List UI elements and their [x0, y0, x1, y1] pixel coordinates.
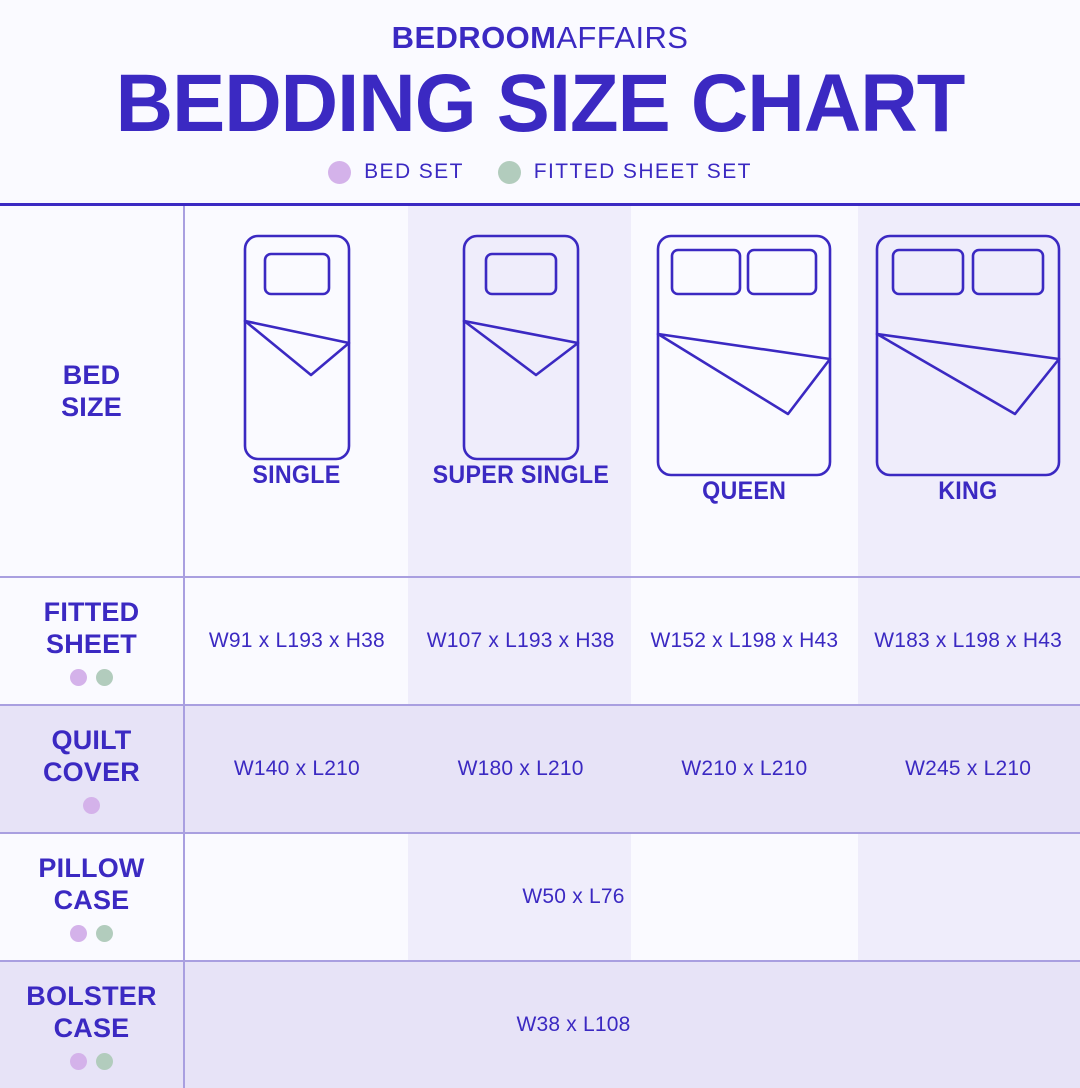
cell-quilt-cover-single: W140 x L210: [185, 706, 409, 832]
row-cells-quilt-cover: W140 x L210 W180 x L210 W210 x L210 W245…: [185, 706, 1080, 832]
cell-value: W107 x L193 x H38: [427, 629, 615, 653]
bed-name-single: SINGLE: [253, 461, 341, 490]
bedding-size-table: BED SIZE SINGLE SUPER SINGLE: [0, 203, 1080, 1080]
table-row-pillow-case: PILLOW CASE W50 x L76: [0, 832, 1080, 960]
bed-name-king: KING: [938, 477, 997, 506]
legend-label-fitted-sheet-set: FITTED SHEET SET: [534, 160, 752, 184]
row-label-line1: BOLSTER: [26, 980, 156, 1012]
row-label-fitted-sheet: FITTED SHEET: [0, 578, 185, 704]
row-dots-quilt-cover: [83, 797, 100, 814]
cell-quilt-cover-king: W245 x L210: [856, 706, 1080, 832]
fitted-sheet-dot-icon: [96, 925, 113, 942]
cell-fitted-sheet-single: W91 x L193 x H38: [185, 578, 409, 704]
cell-value: W210 x L210: [681, 757, 807, 781]
cell-value: W38 x L108: [516, 1013, 630, 1037]
cell-fitted-sheet-super-single: W107 x L193 x H38: [409, 578, 633, 704]
bed-set-dot-icon: [83, 797, 100, 814]
cell-bolster-case-all-sizes: W38 x L108: [185, 962, 1080, 1088]
brand-name-strong: BEDROOM: [392, 20, 557, 55]
row-label-line1: FITTED: [44, 596, 140, 628]
bed-cell-single: SINGLE: [185, 206, 409, 576]
cell-value: W245 x L210: [905, 757, 1031, 781]
row-label-line1: PILLOW: [38, 852, 144, 884]
bed-set-dot-icon: [70, 925, 87, 942]
bed-name-queen: QUEEN: [702, 477, 786, 506]
legend-item-fitted-sheet-set: FITTED SHEET SET: [498, 160, 752, 184]
fitted-sheet-dot-icon: [96, 1053, 113, 1070]
row-cells-bed-size: SINGLE SUPER SINGLE QUEEN: [185, 206, 1080, 576]
table-row-bolster-case: BOLSTER CASE W38 x L108: [0, 960, 1080, 1088]
bed-set-dot-icon: [328, 161, 351, 184]
row-label-line1: BED: [63, 359, 121, 391]
row-cells-bolster-case: W38 x L108: [185, 962, 1080, 1088]
bed-illustration-single-icon: [243, 234, 351, 461]
bed-set-dot-icon: [70, 669, 87, 686]
row-label-bolster-case: BOLSTER CASE: [0, 962, 185, 1088]
bed-set-dot-icon: [70, 1053, 87, 1070]
cell-value: W183 x L198 x H43: [874, 629, 1062, 653]
cell-value: W180 x L210: [458, 757, 584, 781]
page-title: BEDDING SIZE CHART: [16, 62, 1064, 146]
cell-value: W50 x L76: [522, 885, 624, 909]
cell-pillow-case-all-sizes: W50 x L76: [185, 834, 1080, 960]
bed-illustration-king-icon: [875, 234, 1061, 477]
cell-quilt-cover-queen: W210 x L210: [633, 706, 857, 832]
legend-label-bed-set: BED SET: [364, 160, 464, 184]
fitted-sheet-dot-icon: [498, 161, 521, 184]
cell-value: W140 x L210: [234, 757, 360, 781]
legend-item-bed-set: BED SET: [328, 160, 464, 184]
bed-cell-super-single: SUPER SINGLE: [409, 206, 633, 576]
legend: BED SET FITTED SHEET SET: [0, 160, 1080, 184]
bed-cell-queen: QUEEN: [633, 206, 857, 576]
row-label-quilt-cover: QUILT COVER: [0, 706, 185, 832]
cell-fitted-sheet-queen: W152 x L198 x H43: [633, 578, 857, 704]
table-row-bed-size: BED SIZE SINGLE SUPER SINGLE: [0, 206, 1080, 576]
brand-logo: BEDROOMAFFAIRS: [0, 0, 1080, 56]
cell-value: W152 x L198 x H43: [650, 629, 838, 653]
bed-name-super-single: SUPER SINGLE: [432, 461, 608, 490]
row-cells-pillow-case: W50 x L76: [185, 834, 1080, 960]
row-label-line2: CASE: [54, 1012, 130, 1044]
row-label-bed-size: BED SIZE: [0, 206, 185, 576]
row-dots-pillow-case: [70, 925, 113, 942]
row-cells-fitted-sheet: W91 x L193 x H38 W107 x L193 x H38 W152 …: [185, 578, 1080, 704]
cell-fitted-sheet-king: W183 x L198 x H43: [856, 578, 1080, 704]
cell-value: W91 x L193 x H38: [209, 629, 385, 653]
bed-illustration-queen-icon: [656, 234, 832, 477]
row-label-line1: QUILT: [52, 724, 132, 756]
bed-illustration-super-single-icon: [462, 234, 580, 461]
row-label-line2: COVER: [43, 756, 140, 788]
row-dots-bolster-case: [70, 1053, 113, 1070]
row-label-line2: SIZE: [61, 391, 122, 423]
chart-header: BEDROOMAFFAIRS BEDDING SIZE CHART BED SE…: [0, 0, 1080, 203]
row-label-pillow-case: PILLOW CASE: [0, 834, 185, 960]
fitted-sheet-dot-icon: [96, 669, 113, 686]
brand-name-light: AFFAIRS: [556, 20, 688, 55]
table-row-fitted-sheet: FITTED SHEET W91 x L193 x H38 W107 x L19…: [0, 576, 1080, 704]
row-dots-fitted-sheet: [70, 669, 113, 686]
table-row-quilt-cover: QUILT COVER W140 x L210 W180 x L210 W210…: [0, 704, 1080, 832]
row-label-line2: CASE: [54, 884, 130, 916]
bed-cell-king: KING: [856, 206, 1080, 576]
cell-quilt-cover-super-single: W180 x L210: [409, 706, 633, 832]
row-label-line2: SHEET: [46, 628, 137, 660]
